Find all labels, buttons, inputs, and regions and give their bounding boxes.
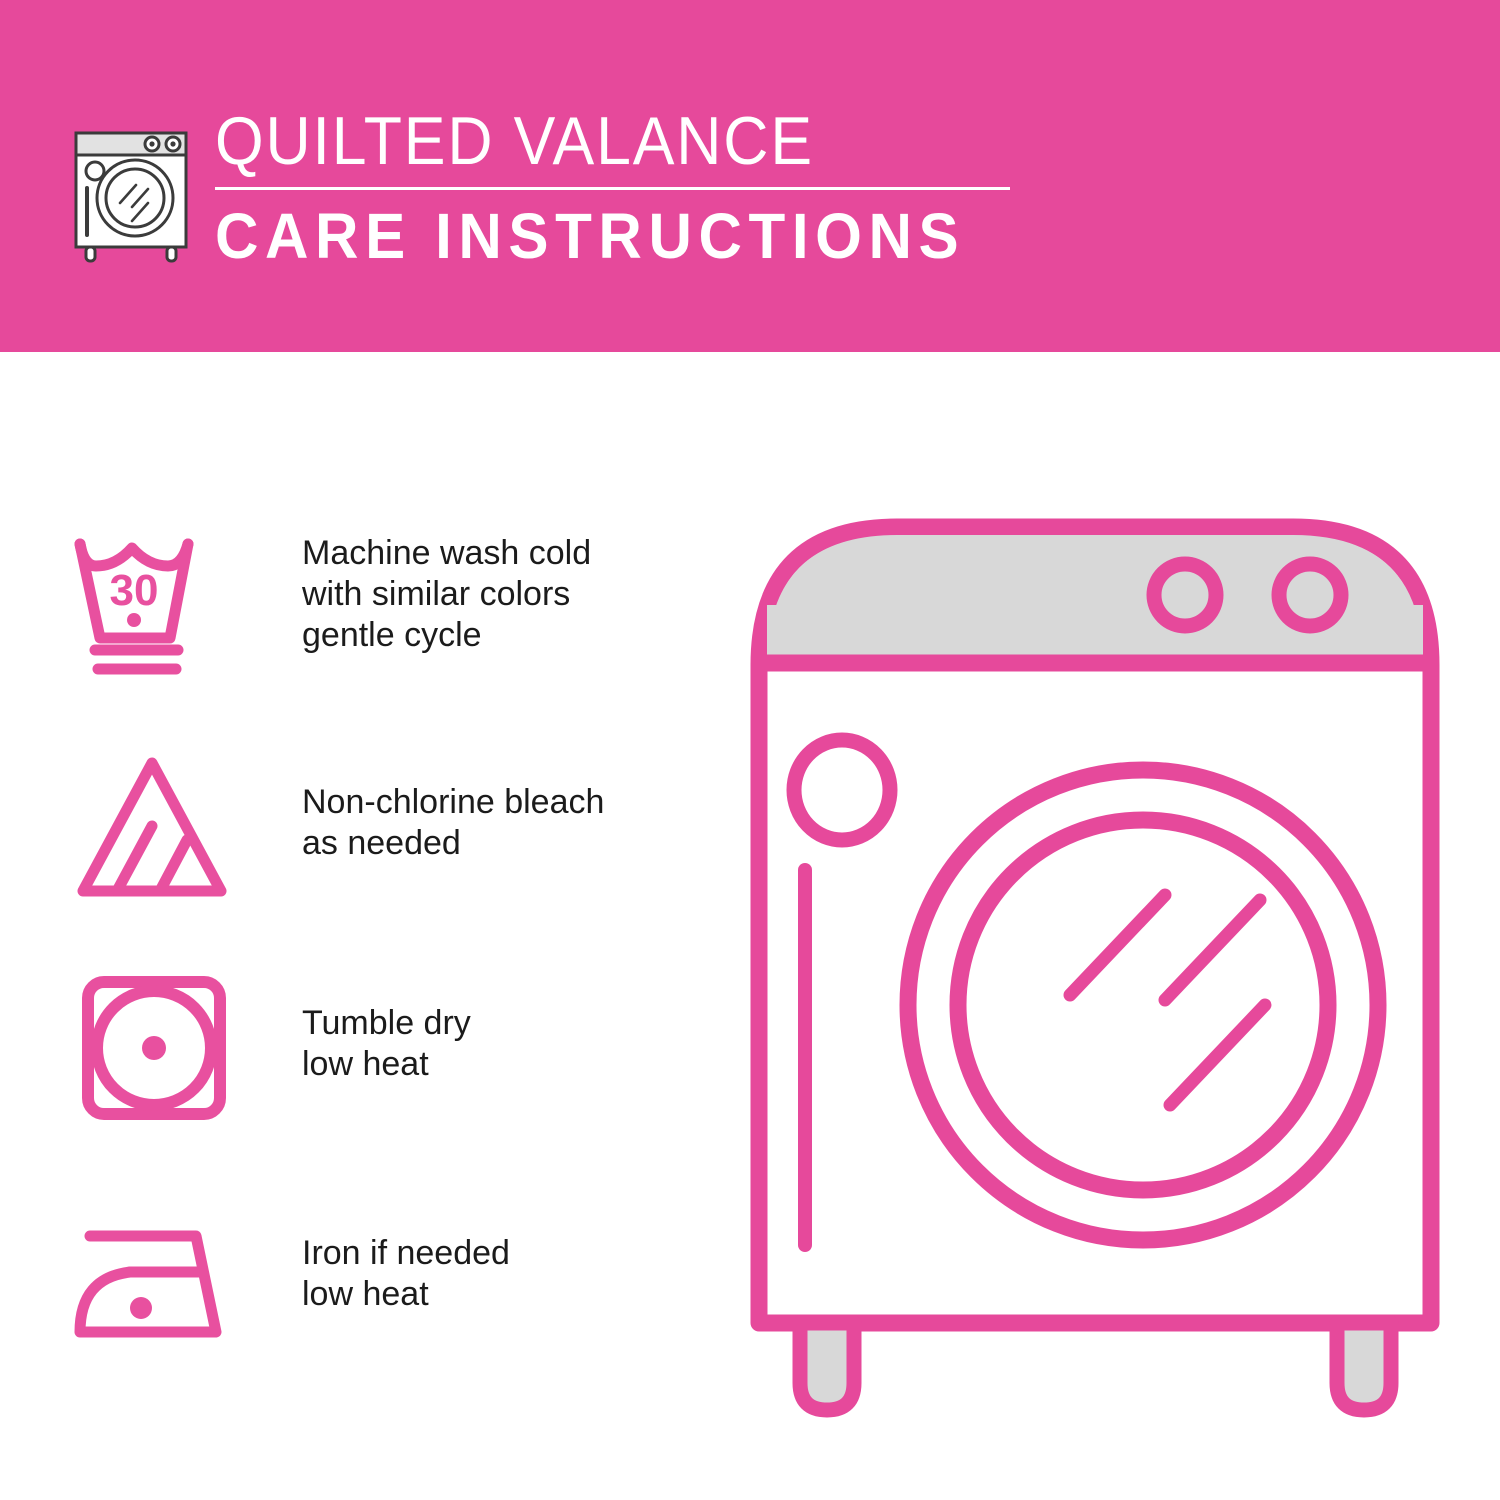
page-subtitle: CARE INSTRUCTIONS [215,200,967,272]
care-item-label: Iron if needed low heat [302,1233,510,1315]
care-text-line: gentle cycle [302,615,591,656]
iron-low-heat-icon [70,1210,240,1370]
tumble-dry-dot-icon [142,1036,166,1060]
care-instruction-list: 30 Machine wash cold with similar colors… [70,510,690,1410]
tumble-dry-low-icon [78,972,248,1132]
non-chlorine-bleach-icon [70,750,240,910]
care-text-line: with similar colors [302,574,591,615]
title-divider [215,187,1010,190]
page-title: QUILTED VALANCE [215,103,951,179]
wash-dot-icon [127,613,141,627]
care-text-line: Non-chlorine bleach [302,782,604,823]
care-item-iron: Iron if needed low heat [70,1185,690,1410]
washing-machine-logo-icon [62,103,202,263]
care-item-tumble-dry: Tumble dry low heat [70,960,690,1185]
care-text-line: low heat [302,1274,510,1315]
care-item-label: Tumble dry low heat [302,1003,471,1085]
front-load-washing-machine-illustration [745,505,1445,1430]
care-item-label: Non-chlorine bleach as needed [302,782,604,864]
care-item-machine-wash: 30 Machine wash cold with similar colors… [70,510,690,735]
care-text-line: Tumble dry [302,1003,471,1044]
leg-left [800,1323,854,1410]
care-text-line: Machine wash cold [302,533,591,574]
care-text-line: Iron if needed [302,1233,510,1274]
wash-temperature-label: 30 [110,566,159,615]
care-item-label: Machine wash cold with similar colors ge… [302,533,591,656]
leg-right [1337,1323,1391,1410]
care-item-bleach: Non-chlorine bleach as needed [70,735,690,960]
header-text-block: QUILTED VALANCE CARE INSTRUCTIONS [215,103,1015,272]
care-text-line: low heat [302,1044,471,1085]
care-instructions-page: QUILTED VALANCE CARE INSTRUCTIONS 30 [0,0,1500,1500]
header-banner: QUILTED VALANCE CARE INSTRUCTIONS [0,0,1500,352]
care-text-line: as needed [302,823,604,864]
machine-wash-30-gentle-icon: 30 [70,522,240,682]
iron-dot-icon [130,1297,152,1319]
